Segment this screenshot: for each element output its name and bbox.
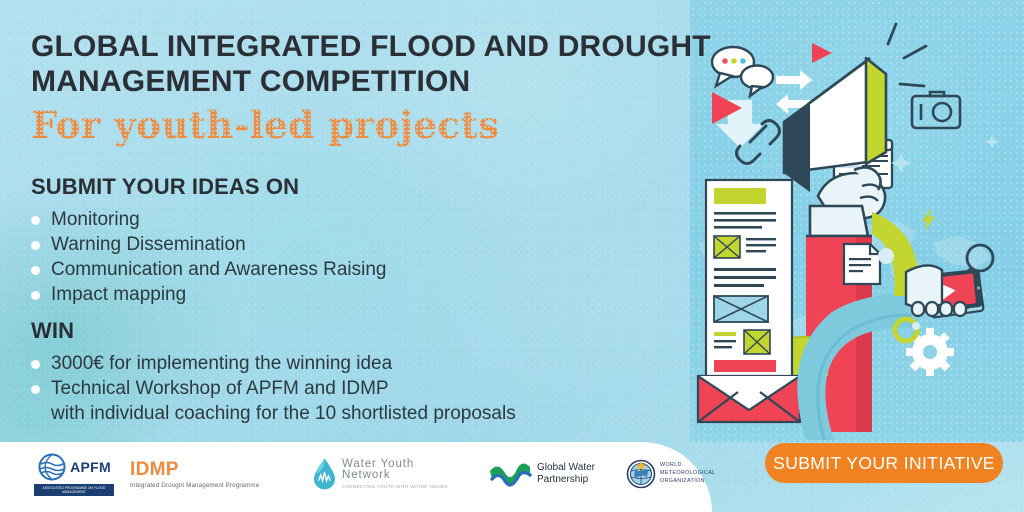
logo-wyn-tagline: CONNECTING YOUTH WITH WATER ISSUES xyxy=(342,484,462,489)
logo-gwp-wordmark: Global Water Partnership xyxy=(537,462,595,486)
submit-ideas-list: Monitoring Warning Dissemination Communi… xyxy=(31,207,387,307)
gwp-wave-icon xyxy=(488,459,532,489)
document-icon xyxy=(844,244,880,284)
wmo-seal-icon xyxy=(626,459,656,489)
list-item-label: 3000€ for implementing the winning idea xyxy=(51,351,516,376)
list-item: 3000€ for implementing the winning idea xyxy=(31,351,516,376)
logo-global-water-partnership: Global Water Partnership xyxy=(488,459,608,489)
list-item-label: Monitoring xyxy=(51,207,387,232)
logo-wmo-wordmark: WORLD METEOROLOGICAL ORGANIZATION xyxy=(660,462,716,485)
bullet-dot-icon xyxy=(31,291,40,300)
logo-world-meteorological-organization: WORLD METEOROLOGICAL ORGANIZATION xyxy=(626,459,731,489)
footer-logo-band: APFM ASSOCIATED PROGRAMME ON FLOOD MANAG… xyxy=(0,442,712,512)
partner-logos: APFM ASSOCIATED PROGRAMME ON FLOOD MANAG… xyxy=(34,450,731,498)
list-item: Impact mapping xyxy=(31,282,387,307)
list-item: Warning Dissemination xyxy=(31,232,387,257)
camera-icon xyxy=(912,92,960,128)
logo-apfm-tagline: ASSOCIATED PROGRAMME ON FLOOD MANAGEMENT xyxy=(36,486,112,494)
logo-water-youth-network: Water Youth Network CONNECTING YOUTH WIT… xyxy=(312,457,462,491)
win-benefits-list: 3000€ for implementing the winning idea … xyxy=(31,351,516,426)
logo-idmp-wordmark: IDMP xyxy=(130,460,259,479)
promotional-banner: GLOBAL INTEGRATED FLOOD AND DROUGHT MANA… xyxy=(0,0,1024,512)
hand-holding-phone-icon xyxy=(906,265,983,316)
logo-idmp-tagline: Integrated Drought Management Programme xyxy=(130,482,259,489)
list-item-label: Technical Workshop of APFM and IDMP with… xyxy=(51,376,516,426)
logo-apfm-wordmark: APFM xyxy=(70,460,111,474)
newsletter-envelope-icon xyxy=(698,376,800,422)
submit-initiative-button[interactable]: SUBMIT YOUR INITIATIVE xyxy=(765,443,1003,483)
water-globe-icon xyxy=(37,452,67,482)
lightning-icon xyxy=(922,208,935,231)
water-droplet-icon xyxy=(312,457,337,491)
bullet-dot-icon xyxy=(31,241,40,250)
list-item: Technical Workshop of APFM and IDMP with… xyxy=(31,376,516,426)
bullet-dot-icon xyxy=(31,385,40,394)
subtitle-text: For youth-led projects xyxy=(31,105,500,146)
bullet-dot-icon xyxy=(31,216,40,225)
list-item-label: Impact mapping xyxy=(51,282,387,307)
red-play-triangle-icon-2 xyxy=(812,43,832,63)
list-item: Monitoring xyxy=(31,207,387,232)
list-item-label: Warning Dissemination xyxy=(51,232,387,257)
speech-bubble-dots-icon xyxy=(722,58,746,64)
logo-apfm: APFM ASSOCIATED PROGRAMME ON FLOOD MANAG… xyxy=(34,452,120,496)
list-item: Communication and Awareness Raising xyxy=(31,257,387,282)
win-section-title: WIN xyxy=(31,318,74,344)
bullet-dot-icon xyxy=(31,266,40,275)
megaphone-sound-lines-icon xyxy=(888,24,926,86)
logo-idmp: IDMP Integrated Drought Management Progr… xyxy=(130,460,290,489)
social-media-illustration xyxy=(690,0,1024,442)
list-item-label: Communication and Awareness Raising xyxy=(51,257,387,282)
page-title: GLOBAL INTEGRATED FLOOD AND DROUGHT MANA… xyxy=(31,29,711,99)
bullet-dot-icon xyxy=(31,360,40,369)
logo-wyn-wordmark: Water Youth Network xyxy=(342,459,462,482)
submit-section-title: SUBMIT YOUR IDEAS ON xyxy=(31,174,299,200)
newsletter-icon xyxy=(706,180,792,390)
speech-bubbles-icon xyxy=(712,47,773,96)
illustration-panel xyxy=(690,0,1024,442)
subtitle: For youth-led projects xyxy=(31,105,500,146)
